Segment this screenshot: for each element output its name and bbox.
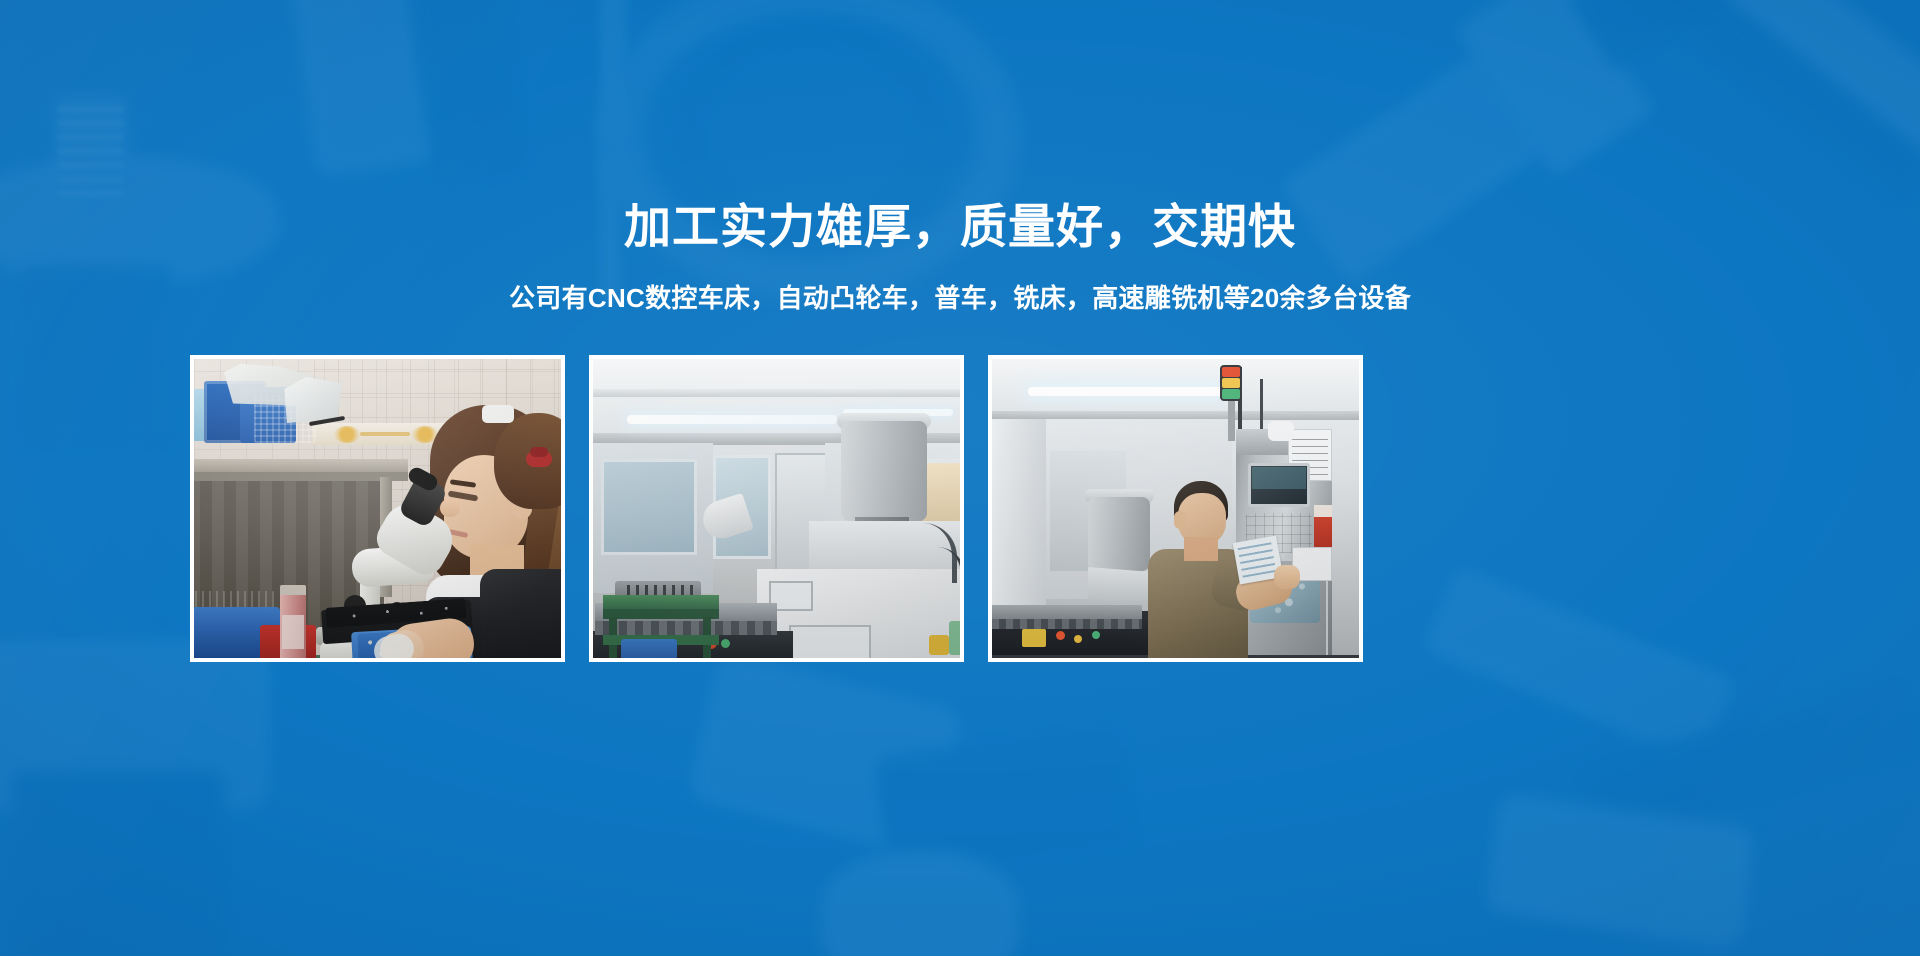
watermark-pipe-fitting-icon [700, 640, 1170, 956]
banner-headline: 加工实力雄厚，质量好，交期快 [0, 200, 1920, 254]
photo-machine-operator[interactable] [988, 355, 1363, 662]
equipment-photo-gallery [190, 355, 1362, 662]
watermark-screw-cluster-icon [1430, 560, 1920, 956]
photo-cnc-workshop[interactable] [589, 355, 964, 662]
photo-quality-inspection[interactable] [190, 355, 565, 662]
promo-banner: 加工实力雄厚，质量好，交期快 公司有CNC数控车床，自动凸轮车，普车，铣床，高速… [0, 0, 1920, 956]
banner-subheadline: 公司有CNC数控车床，自动凸轮车，普车，铣床，高速雕铣机等20余多台设备 [0, 282, 1920, 316]
